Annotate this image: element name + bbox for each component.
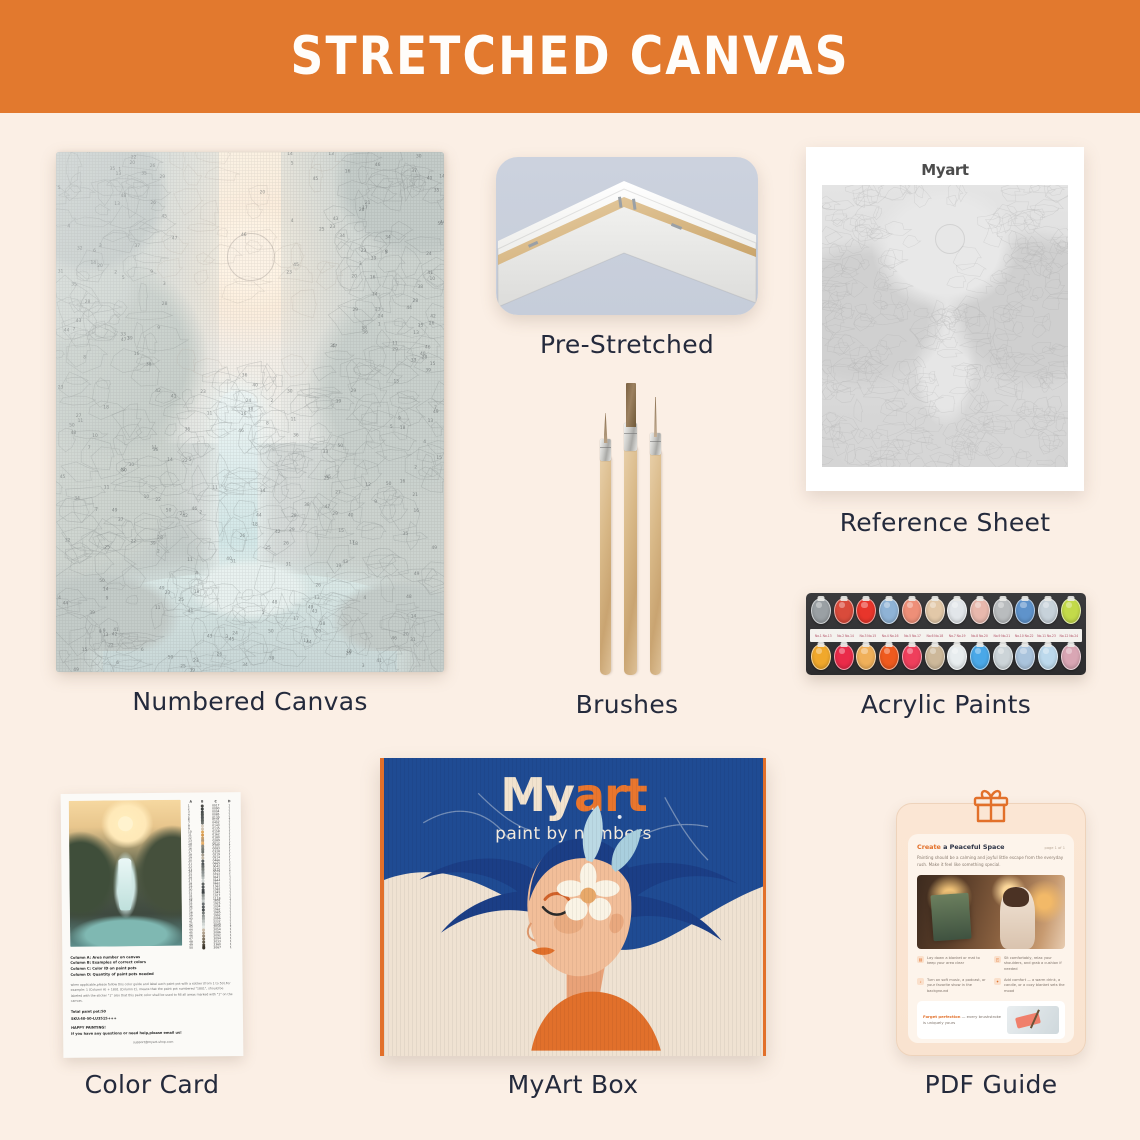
paint-pot-row-top bbox=[811, 598, 1081, 624]
svg-text:42: 42 bbox=[275, 529, 281, 535]
svg-text:50: 50 bbox=[268, 628, 274, 634]
svg-text:28: 28 bbox=[291, 513, 297, 519]
svg-text:1: 1 bbox=[262, 610, 265, 616]
svg-text:33: 33 bbox=[120, 332, 126, 338]
svg-text:18: 18 bbox=[194, 589, 200, 595]
pdf-tip-text: Add comfort — a warm drink, a candle, or… bbox=[1004, 978, 1065, 995]
cc-qty: 1 bbox=[228, 946, 233, 949]
svg-text:36: 36 bbox=[185, 426, 191, 432]
svg-text:50: 50 bbox=[69, 423, 75, 429]
brush-liner bbox=[650, 405, 661, 675]
svg-text:9: 9 bbox=[99, 629, 102, 635]
svg-text:39: 39 bbox=[89, 610, 95, 616]
paint-pot-label-5: No.5 No.17 bbox=[901, 634, 923, 638]
svg-text:29: 29 bbox=[160, 174, 166, 180]
svg-text:5: 5 bbox=[122, 275, 125, 281]
svg-text:25: 25 bbox=[319, 227, 325, 233]
svg-text:34: 34 bbox=[339, 233, 345, 239]
paint-pot-3 bbox=[856, 644, 876, 670]
svg-text:44: 44 bbox=[256, 512, 262, 518]
svg-text:11: 11 bbox=[187, 557, 193, 563]
svg-text:35: 35 bbox=[71, 282, 77, 288]
svg-text:46: 46 bbox=[241, 232, 247, 238]
svg-text:18: 18 bbox=[352, 541, 358, 547]
paint-pot-5 bbox=[902, 598, 922, 624]
svg-text:15: 15 bbox=[394, 378, 400, 384]
svg-text:18: 18 bbox=[252, 522, 258, 528]
svg-text:23: 23 bbox=[200, 389, 206, 395]
pdf-title-rest: a Peaceful Space bbox=[941, 843, 1005, 851]
paint-pot-7 bbox=[947, 598, 967, 624]
svg-text:8: 8 bbox=[83, 354, 86, 360]
color-card-artwork bbox=[69, 800, 183, 947]
paint-pot-8 bbox=[970, 598, 990, 624]
svg-text:14: 14 bbox=[167, 457, 173, 463]
svg-text:3: 3 bbox=[99, 243, 102, 249]
svg-text:16: 16 bbox=[370, 275, 376, 281]
svg-text:22: 22 bbox=[131, 155, 137, 161]
box-woman-illustration bbox=[384, 758, 763, 1051]
svg-text:9: 9 bbox=[106, 596, 109, 602]
svg-text:39: 39 bbox=[425, 367, 431, 373]
svg-text:29: 29 bbox=[353, 307, 359, 313]
svg-text:22: 22 bbox=[131, 539, 137, 545]
paint-pot-label-4: No.4 No.16 bbox=[879, 634, 901, 638]
svg-text:47: 47 bbox=[172, 236, 178, 242]
svg-text:13: 13 bbox=[428, 418, 434, 424]
svg-text:4: 4 bbox=[58, 595, 61, 601]
svg-text:17: 17 bbox=[293, 616, 299, 622]
svg-text:13: 13 bbox=[103, 632, 109, 638]
svg-text:14: 14 bbox=[260, 488, 266, 494]
svg-text:31: 31 bbox=[286, 562, 292, 568]
svg-text:5: 5 bbox=[291, 161, 294, 167]
svg-text:25: 25 bbox=[104, 545, 110, 551]
svg-text:10: 10 bbox=[92, 433, 98, 439]
svg-text:14: 14 bbox=[439, 174, 444, 180]
label-reference-sheet: Reference Sheet bbox=[806, 508, 1084, 537]
color-card-table: ABCD 10017120090130004140085150130160131… bbox=[187, 799, 235, 949]
svg-text:26: 26 bbox=[150, 200, 156, 206]
svg-text:24: 24 bbox=[378, 314, 384, 320]
svg-text:49: 49 bbox=[112, 507, 118, 513]
svg-text:14: 14 bbox=[411, 614, 417, 620]
svg-text:44: 44 bbox=[306, 639, 312, 645]
color-card-table-body: 1001712009013000414008515013016013117040… bbox=[187, 804, 235, 949]
svg-text:9: 9 bbox=[150, 269, 153, 275]
svg-text:46: 46 bbox=[238, 428, 244, 434]
svg-text:41: 41 bbox=[171, 393, 177, 399]
svg-text:31: 31 bbox=[58, 269, 64, 275]
table-icon: ▤ bbox=[917, 956, 924, 963]
reference-sheet-artwork bbox=[822, 185, 1068, 467]
pdf-tip-1: ▤Lay down a blanket or mat to keep your … bbox=[917, 956, 988, 973]
svg-text:47: 47 bbox=[325, 504, 331, 510]
svg-text:26: 26 bbox=[240, 533, 246, 539]
svg-text:40: 40 bbox=[420, 351, 426, 357]
svg-text:30: 30 bbox=[287, 388, 293, 394]
svg-text:20: 20 bbox=[97, 263, 103, 269]
svg-text:46: 46 bbox=[425, 345, 431, 351]
cc-color-swatch bbox=[202, 946, 205, 949]
svg-text:16: 16 bbox=[345, 168, 351, 174]
canvas-region-numbers: 1811434861814443133350935445454714413172… bbox=[56, 152, 444, 672]
svg-text:20: 20 bbox=[351, 274, 357, 280]
paint-pot-4 bbox=[879, 598, 899, 624]
cc-color-id: 2067 bbox=[212, 946, 222, 949]
paint-pot-3 bbox=[856, 598, 876, 624]
svg-text:27: 27 bbox=[335, 489, 341, 495]
svg-text:28: 28 bbox=[157, 535, 163, 541]
svg-text:33: 33 bbox=[323, 449, 329, 455]
svg-text:8: 8 bbox=[266, 421, 269, 427]
svg-text:4: 4 bbox=[363, 595, 366, 601]
svg-text:25: 25 bbox=[265, 545, 271, 551]
paint-pot-11 bbox=[1038, 598, 1058, 624]
svg-text:43: 43 bbox=[76, 318, 82, 324]
pdf-guide-photo bbox=[917, 875, 1065, 949]
paint-pot-label-10: No.10 No.22 bbox=[1013, 634, 1035, 638]
acrylic-paints-image: No.1 No.13No.2 No.14No.3 No.15No.4 No.16… bbox=[806, 593, 1086, 675]
svg-text:42: 42 bbox=[430, 313, 436, 319]
svg-text:28: 28 bbox=[359, 207, 365, 213]
svg-text:14: 14 bbox=[91, 260, 97, 266]
paint-pot-2 bbox=[834, 598, 854, 624]
paint-pot-6 bbox=[925, 598, 945, 624]
music-icon: ♪ bbox=[917, 978, 924, 985]
numbered-canvas-image: 1811434861814443133350935445454714413172… bbox=[56, 152, 444, 672]
pdf-tip-3: ♪Turn on soft music, a podcast, or your … bbox=[917, 978, 988, 995]
paint-pot-9 bbox=[993, 644, 1013, 670]
svg-text:41: 41 bbox=[427, 270, 433, 276]
svg-text:11: 11 bbox=[104, 484, 110, 490]
svg-text:25: 25 bbox=[180, 663, 186, 669]
svg-text:40: 40 bbox=[427, 176, 433, 182]
svg-text:27: 27 bbox=[76, 413, 82, 419]
pdf-title-highlight: Create bbox=[917, 843, 941, 851]
svg-text:15: 15 bbox=[82, 647, 88, 653]
svg-text:14: 14 bbox=[287, 152, 293, 157]
svg-text:2: 2 bbox=[157, 548, 160, 554]
svg-text:47: 47 bbox=[86, 152, 92, 154]
svg-text:48: 48 bbox=[406, 594, 412, 600]
svg-text:13: 13 bbox=[116, 171, 122, 177]
svg-text:38: 38 bbox=[304, 502, 310, 508]
paint-pot-6 bbox=[925, 644, 945, 670]
gift-icon bbox=[969, 786, 1013, 826]
paint-pot-label-9: No.9 No.21 bbox=[991, 634, 1013, 638]
color-card-col-B: B bbox=[200, 799, 205, 803]
svg-text:50: 50 bbox=[168, 655, 174, 661]
svg-text:20: 20 bbox=[403, 632, 409, 638]
paint-pot-8 bbox=[970, 644, 990, 670]
pdf-guide-page-number: page 1 of 1 bbox=[1045, 846, 1065, 850]
svg-text:22: 22 bbox=[182, 458, 188, 464]
svg-text:20: 20 bbox=[316, 629, 322, 635]
svg-text:33: 33 bbox=[411, 357, 417, 363]
svg-text:13: 13 bbox=[114, 201, 120, 207]
pdf-tip-text: Lay down a blanket or mat to keep your a… bbox=[927, 956, 988, 967]
cc-area: 50 bbox=[189, 946, 195, 949]
svg-text:2: 2 bbox=[271, 398, 274, 404]
paint-pot-11 bbox=[1038, 644, 1058, 670]
paint-pot-12 bbox=[1061, 598, 1081, 624]
svg-text:46: 46 bbox=[375, 162, 381, 168]
reference-sheet-image: Myart bbox=[806, 147, 1084, 491]
svg-text:18: 18 bbox=[103, 405, 109, 411]
svg-text:43: 43 bbox=[312, 608, 318, 614]
color-card-legend-line-4: Column D: Quantity of paint pots needed bbox=[70, 971, 234, 979]
pdf-cta-bold: Forget perfection bbox=[923, 1014, 960, 1019]
svg-text:45: 45 bbox=[293, 262, 299, 268]
paint-pot-2 bbox=[834, 644, 854, 670]
svg-text:25: 25 bbox=[178, 597, 184, 603]
svg-text:26: 26 bbox=[283, 541, 289, 547]
svg-text:5: 5 bbox=[390, 424, 393, 430]
paint-pot-row-bottom bbox=[811, 644, 1081, 670]
svg-text:35: 35 bbox=[110, 166, 116, 172]
svg-text:26: 26 bbox=[150, 163, 156, 169]
svg-text:9: 9 bbox=[398, 416, 401, 422]
svg-text:7: 7 bbox=[95, 507, 98, 513]
pdf-guide-page: Create a Peaceful Space page 1 of 1 Pain… bbox=[908, 834, 1074, 1043]
svg-text:29: 29 bbox=[351, 388, 357, 394]
svg-text:39: 39 bbox=[127, 336, 133, 342]
svg-text:39: 39 bbox=[150, 541, 156, 547]
svg-text:22: 22 bbox=[155, 497, 161, 503]
label-pre-stretched: Pre-Stretched bbox=[496, 330, 758, 359]
svg-text:45: 45 bbox=[162, 213, 168, 219]
color-card-totals: Total paint pot:50 SKU:40-50-LU3515+++ H… bbox=[71, 1008, 235, 1038]
svg-text:48: 48 bbox=[71, 430, 77, 436]
svg-text:37: 37 bbox=[135, 243, 141, 249]
svg-text:2: 2 bbox=[414, 465, 417, 471]
svg-text:1: 1 bbox=[378, 322, 381, 328]
svg-text:20: 20 bbox=[130, 160, 136, 166]
svg-text:44: 44 bbox=[64, 327, 70, 333]
svg-text:35: 35 bbox=[141, 171, 147, 177]
pdf-guide-tips: ▤Lay down a blanket or mat to keep your … bbox=[917, 956, 1065, 994]
svg-text:35: 35 bbox=[403, 531, 409, 537]
svg-text:7: 7 bbox=[434, 405, 437, 411]
chair-icon: ◰ bbox=[994, 956, 1001, 963]
svg-text:39: 39 bbox=[190, 667, 196, 672]
paint-pot-4 bbox=[879, 644, 899, 670]
paint-pot-12 bbox=[1061, 644, 1081, 670]
svg-text:50: 50 bbox=[386, 481, 392, 487]
svg-text:46: 46 bbox=[391, 636, 397, 642]
svg-text:42: 42 bbox=[112, 632, 118, 638]
svg-text:23: 23 bbox=[58, 384, 64, 390]
svg-text:23: 23 bbox=[286, 269, 292, 275]
svg-text:36: 36 bbox=[362, 330, 368, 336]
svg-text:31: 31 bbox=[410, 637, 416, 643]
label-acrylic-paints: Acrylic Paints bbox=[806, 690, 1086, 719]
svg-text:22: 22 bbox=[108, 643, 114, 649]
svg-text:6: 6 bbox=[141, 647, 144, 653]
svg-text:7: 7 bbox=[73, 326, 76, 332]
svg-text:39: 39 bbox=[269, 655, 275, 661]
svg-text:13: 13 bbox=[413, 330, 419, 336]
svg-text:10: 10 bbox=[430, 276, 436, 282]
svg-text:7: 7 bbox=[88, 445, 91, 451]
svg-text:11: 11 bbox=[291, 417, 297, 423]
svg-text:23: 23 bbox=[193, 658, 199, 664]
paint-pot-label-7: No.7 No.19 bbox=[946, 634, 968, 638]
svg-text:5: 5 bbox=[58, 185, 61, 191]
paint-pot-label-3: No.3 No.15 bbox=[857, 634, 879, 638]
svg-text:19: 19 bbox=[336, 563, 342, 569]
svg-text:40: 40 bbox=[226, 556, 232, 562]
label-myart-box: MyArt Box bbox=[380, 1070, 766, 1099]
candle-icon: ✦ bbox=[994, 978, 1001, 985]
label-brushes: Brushes bbox=[496, 690, 758, 719]
paint-pot-9 bbox=[993, 598, 1013, 624]
pdf-tip-4: ✦Add comfort — a warm drink, a candle, o… bbox=[994, 978, 1065, 995]
svg-text:29: 29 bbox=[392, 347, 398, 353]
svg-text:48: 48 bbox=[121, 193, 127, 199]
svg-text:30: 30 bbox=[416, 154, 422, 160]
paint-pot-label-6: No.6 No.18 bbox=[924, 634, 946, 638]
svg-text:9: 9 bbox=[157, 325, 160, 331]
svg-text:45: 45 bbox=[313, 176, 319, 182]
svg-text:38: 38 bbox=[248, 407, 254, 413]
paint-pot-label-12: No.12 No.24 bbox=[1058, 634, 1080, 638]
reference-sheet-logo: Myart bbox=[822, 161, 1068, 179]
pdf-tip-text: Sit comfortably, relax your shoulders, a… bbox=[1004, 956, 1065, 973]
brush-flat bbox=[624, 385, 637, 675]
svg-text:26: 26 bbox=[217, 651, 223, 657]
pdf-cta-thumbnail bbox=[1007, 1006, 1059, 1034]
paint-pot-10 bbox=[1015, 598, 1035, 624]
pdf-guide-cta: Forget perfection — every brushstroke is… bbox=[917, 1001, 1065, 1039]
svg-text:18: 18 bbox=[400, 425, 406, 431]
svg-text:4: 4 bbox=[423, 439, 426, 445]
svg-text:28: 28 bbox=[162, 301, 168, 307]
svg-text:50: 50 bbox=[338, 443, 344, 449]
svg-text:24: 24 bbox=[246, 398, 252, 404]
color-card-row: 5020671 bbox=[188, 946, 234, 949]
pdf-tip-text: Turn on soft music, a podcast, or your f… bbox=[927, 978, 988, 995]
cc-swatch-cell bbox=[201, 946, 206, 949]
svg-text:11: 11 bbox=[78, 418, 84, 424]
label-numbered-canvas: Numbered Canvas bbox=[56, 687, 444, 716]
svg-text:5: 5 bbox=[189, 457, 192, 463]
infographic-page: STRETCHED CANVAS 18114348618144431333509… bbox=[0, 0, 1140, 1140]
svg-text:49: 49 bbox=[159, 585, 165, 591]
paint-pot-5 bbox=[902, 644, 922, 670]
canvas-artwork: 1811434861814443133350935445454714413172… bbox=[56, 152, 444, 672]
paint-pot-label-11: No.11 No.23 bbox=[1035, 634, 1057, 638]
svg-text:29: 29 bbox=[332, 511, 338, 517]
svg-text:23: 23 bbox=[330, 224, 336, 230]
svg-text:50: 50 bbox=[166, 508, 172, 514]
color-card-note: when applicable,please follow this color… bbox=[71, 981, 235, 1004]
svg-text:20: 20 bbox=[260, 190, 266, 196]
svg-text:14: 14 bbox=[103, 587, 109, 593]
paint-pot-7 bbox=[947, 644, 967, 670]
color-card-image: ABCD 10017120090130004140085150130160131… bbox=[61, 792, 244, 1058]
paint-pot-label-8: No.8 No.20 bbox=[968, 634, 990, 638]
svg-text:15: 15 bbox=[418, 323, 424, 329]
myart-box-image: Myart paint by numbers bbox=[380, 758, 766, 1056]
svg-text:16: 16 bbox=[400, 478, 406, 484]
canvas-frame-corner bbox=[496, 157, 758, 315]
label-color-card: Color Card bbox=[40, 1070, 264, 1099]
svg-text:9: 9 bbox=[374, 499, 377, 505]
svg-text:43: 43 bbox=[207, 633, 213, 639]
svg-text:44: 44 bbox=[440, 219, 444, 225]
svg-text:11: 11 bbox=[207, 411, 213, 417]
brushes-image bbox=[576, 385, 684, 675]
svg-text:28: 28 bbox=[413, 298, 419, 304]
svg-text:39: 39 bbox=[371, 255, 377, 261]
svg-text:41: 41 bbox=[188, 608, 194, 614]
svg-text:24: 24 bbox=[426, 251, 432, 257]
svg-text:11: 11 bbox=[152, 445, 158, 451]
page-header: STRETCHED CANVAS bbox=[0, 0, 1140, 113]
svg-text:2: 2 bbox=[199, 510, 202, 516]
svg-text:26: 26 bbox=[315, 582, 321, 588]
svg-text:19: 19 bbox=[336, 398, 342, 404]
svg-text:28: 28 bbox=[85, 299, 91, 305]
pdf-tip-2: ◰Sit comfortably, relax your shoulders, … bbox=[994, 956, 1065, 973]
svg-text:24: 24 bbox=[232, 631, 238, 637]
paint-pot-label-2: No.2 No.14 bbox=[834, 634, 856, 638]
pre-stretched-image bbox=[496, 157, 758, 315]
svg-text:4: 4 bbox=[67, 223, 70, 229]
color-card-legend: Column A: Area number on canvasColumn B:… bbox=[70, 954, 234, 979]
svg-text:30: 30 bbox=[129, 462, 135, 468]
svg-text:45: 45 bbox=[60, 474, 66, 480]
svg-text:23: 23 bbox=[165, 590, 171, 596]
svg-text:29: 29 bbox=[289, 527, 295, 533]
color-card-email: support@myart-shop.com bbox=[71, 1039, 235, 1045]
svg-text:36: 36 bbox=[242, 372, 248, 378]
svg-text:13: 13 bbox=[328, 152, 334, 157]
svg-text:4: 4 bbox=[195, 571, 198, 577]
svg-text:45: 45 bbox=[229, 636, 235, 642]
svg-text:35: 35 bbox=[434, 187, 440, 193]
svg-text:4: 4 bbox=[291, 218, 294, 224]
svg-text:34: 34 bbox=[74, 496, 80, 502]
svg-text:14: 14 bbox=[372, 292, 378, 298]
svg-text:11: 11 bbox=[212, 485, 218, 491]
svg-text:25: 25 bbox=[330, 343, 336, 349]
svg-text:43: 43 bbox=[342, 559, 348, 565]
svg-text:38: 38 bbox=[418, 284, 424, 290]
pdf-guide-subtitle: Painting should be a calming and joyful … bbox=[917, 855, 1065, 869]
svg-text:15: 15 bbox=[436, 455, 442, 461]
svg-text:11: 11 bbox=[155, 605, 161, 611]
svg-text:49: 49 bbox=[432, 545, 438, 551]
paint-pot-1 bbox=[811, 644, 831, 670]
paint-pot-label-1: No.1 No.13 bbox=[812, 634, 834, 638]
svg-text:10: 10 bbox=[144, 494, 150, 500]
pdf-guide-image: Create a Peaceful Space page 1 of 1 Pain… bbox=[896, 803, 1086, 1056]
svg-text:23: 23 bbox=[375, 307, 381, 313]
svg-text:23: 23 bbox=[361, 248, 367, 254]
svg-text:44: 44 bbox=[406, 305, 412, 311]
svg-text:6: 6 bbox=[116, 660, 119, 666]
svg-text:3: 3 bbox=[163, 281, 166, 287]
svg-text:50: 50 bbox=[99, 578, 105, 584]
svg-text:43: 43 bbox=[333, 216, 339, 222]
svg-text:48: 48 bbox=[272, 599, 278, 605]
svg-text:26: 26 bbox=[429, 320, 435, 326]
svg-text:36: 36 bbox=[293, 432, 299, 438]
svg-text:34: 34 bbox=[385, 235, 391, 241]
